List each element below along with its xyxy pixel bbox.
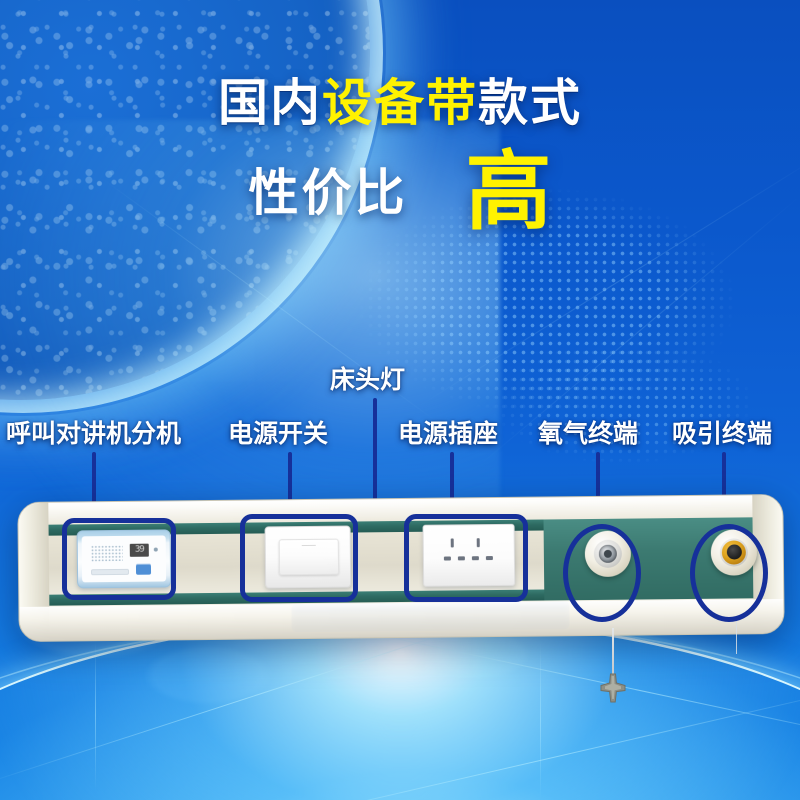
highlight-box-intercom — [62, 518, 176, 600]
highlight-box-power-switch — [240, 514, 358, 602]
horizon-arc-line-outer — [0, 618, 800, 800]
headline-part-2-highlight: 设备带 — [322, 75, 478, 131]
callout-label-power-switch[interactable]: 电源开关 — [228, 414, 328, 450]
highlight-ellipse-suction — [690, 524, 768, 622]
headline-line-2: 性价比 — [249, 168, 408, 218]
headline-part-3: 款式 — [478, 75, 582, 131]
vertical-accent-line — [540, 640, 541, 800]
headline-block: 国内设备带款式 性价比 高 — [0, 78, 800, 231]
highlight-ellipse-oxygen — [563, 524, 641, 622]
cross-weight-icon — [597, 672, 629, 704]
headline-part-1: 国内 — [218, 75, 322, 131]
headline-emphasis-char: 高 — [466, 154, 552, 231]
highlight-box-power-socket — [404, 514, 528, 602]
vertical-accent-line — [95, 640, 96, 790]
panel-bottom-curve — [19, 599, 783, 641]
callout-label-power-socket[interactable]: 电源插座 — [398, 414, 498, 450]
callout-label-bed-lamp[interactable]: 床头灯 — [330, 360, 405, 396]
promo-image: 国内设备带款式 性价比 高 呼叫对讲机分机 电源开关 床头灯 电源插座 氧气终端… — [0, 0, 800, 800]
callout-label-oxygen[interactable]: 氧气终端 — [538, 414, 638, 450]
callout-label-intercom[interactable]: 呼叫对讲机分机 — [6, 414, 181, 450]
headline-line-1: 国内设备带款式 — [0, 78, 800, 128]
headline-line-2-row: 性价比 高 — [0, 154, 800, 231]
callout-label-suction[interactable]: 吸引终端 — [672, 414, 772, 450]
secondary-cord — [736, 620, 737, 654]
